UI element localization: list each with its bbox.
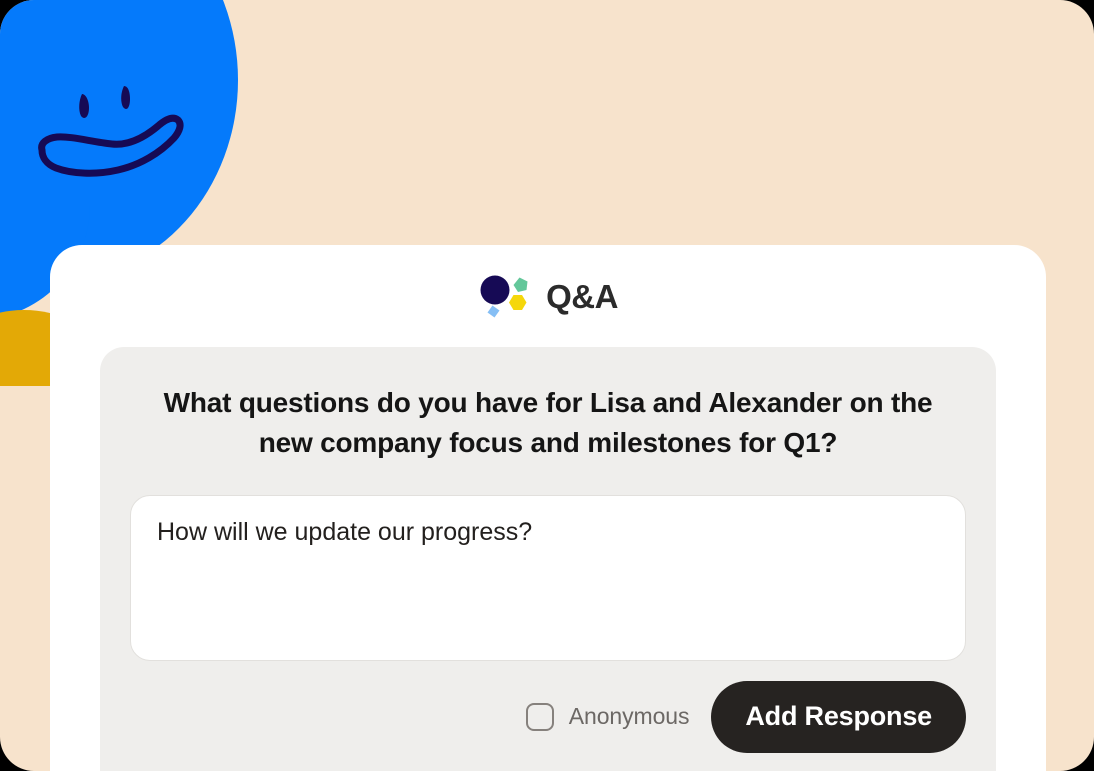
anonymous-checkbox[interactable] bbox=[526, 703, 554, 731]
question-panel: What questions do you have for Lisa and … bbox=[100, 347, 996, 771]
response-input[interactable] bbox=[130, 495, 966, 661]
panel-footer: Anonymous Add Response bbox=[130, 681, 966, 753]
add-response-button[interactable]: Add Response bbox=[711, 681, 966, 753]
question-prompt: What questions do you have for Lisa and … bbox=[138, 383, 958, 463]
q-and-a-logo-icon bbox=[478, 272, 532, 320]
card-header: Q&A bbox=[50, 245, 1046, 347]
qa-screen: Q&A What questions do you have for Lisa … bbox=[0, 0, 1094, 771]
smiley-face-doodle-icon bbox=[0, 0, 260, 230]
qa-card: Q&A What questions do you have for Lisa … bbox=[50, 245, 1046, 771]
page-title: Q&A bbox=[546, 280, 618, 313]
blue-blob-shape bbox=[0, 0, 238, 280]
anonymous-toggle-group[interactable]: Anonymous bbox=[526, 703, 690, 731]
anonymous-label: Anonymous bbox=[569, 703, 690, 730]
